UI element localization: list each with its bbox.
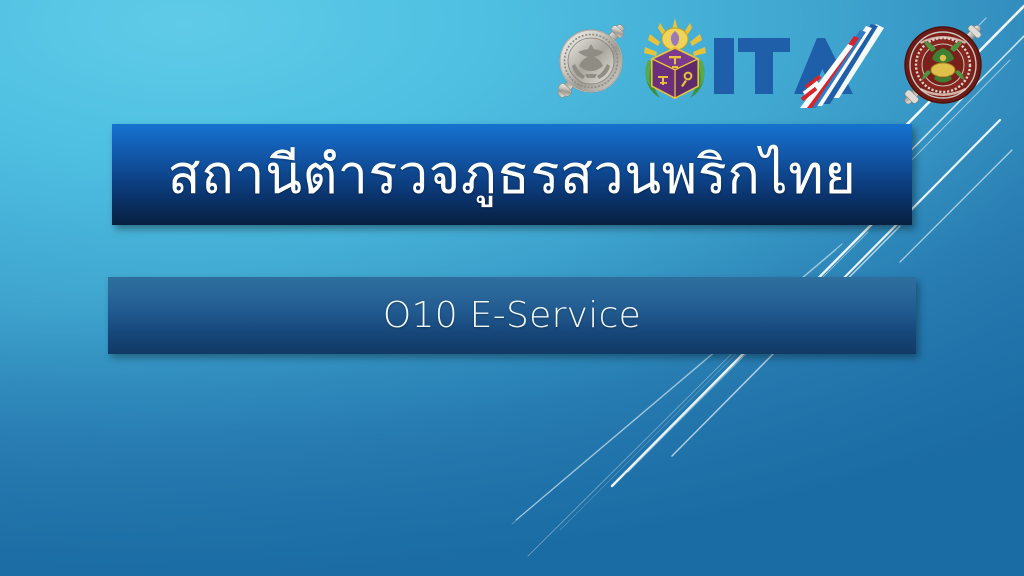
ministry-of-interior-emblem-icon [634,14,716,110]
slide-title-bar: สถานีตำรวจภูธรสวนพริกไทย [112,124,912,225]
police-station-seal-icon [890,12,996,118]
ita-logo-icon [708,24,884,108]
thai-police-badge-icon [545,12,637,110]
slide-subtitle-bar: O10 E-Service [108,277,916,354]
page-title: สถานีตำรวจภูธรสวนพริกไทย [168,148,857,202]
logo-row [0,0,1024,124]
page-subtitle: O10 E-Service [383,298,641,334]
slide-canvas: สถานีตำรวจภูธรสวนพริกไทย O10 E-Service [0,0,1024,576]
